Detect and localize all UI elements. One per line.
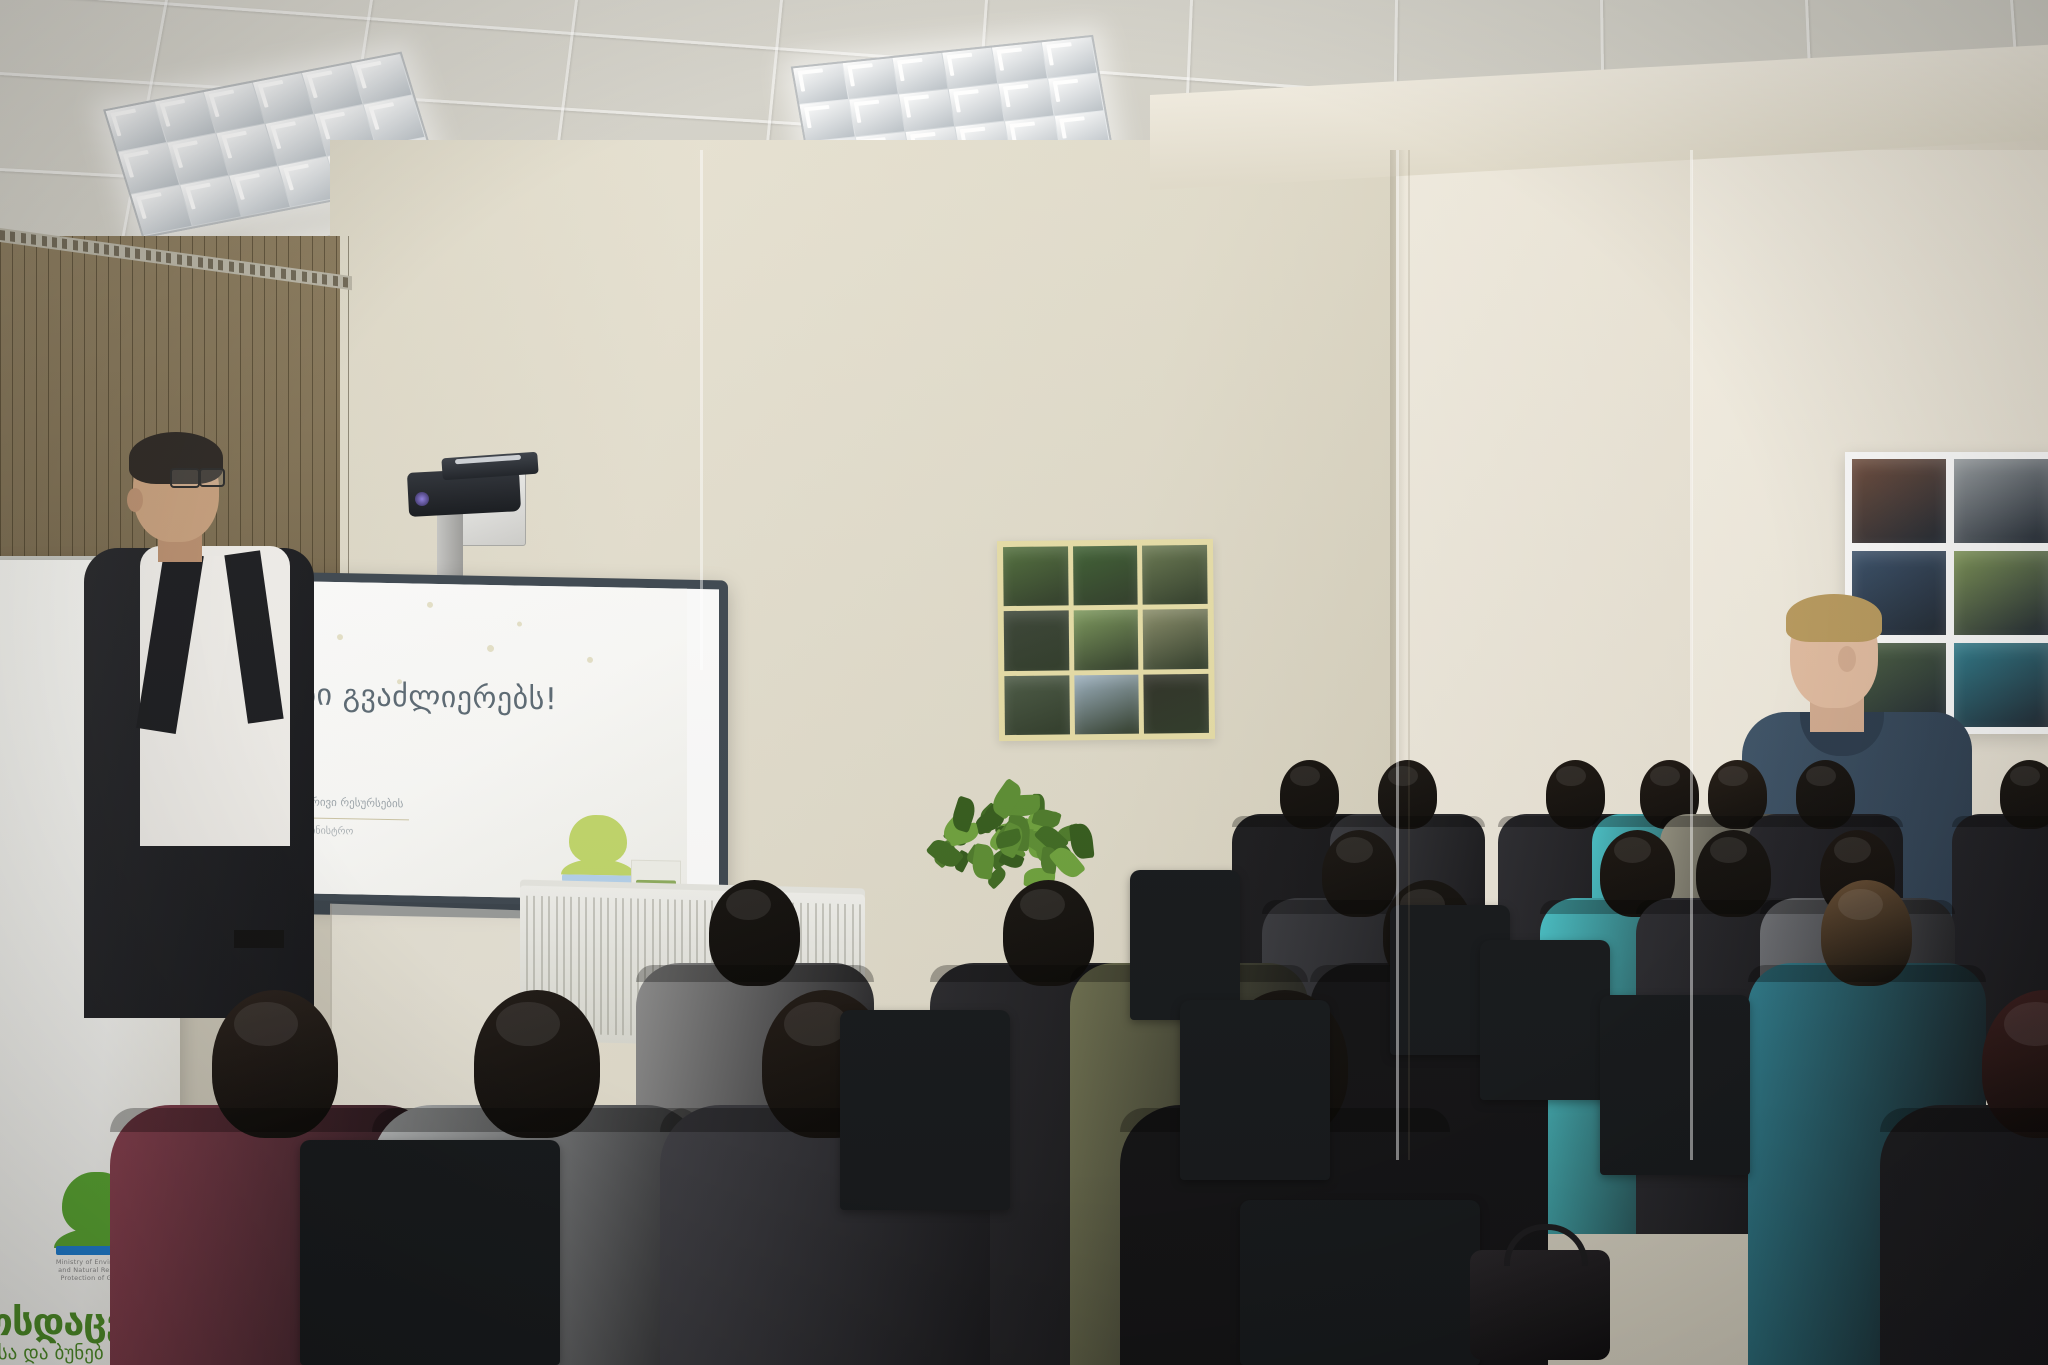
wall-seam-shadow [1408, 150, 1410, 1160]
seated-audience [0, 0, 2048, 1365]
woman-dark-hair-left-body [1880, 1105, 2048, 1365]
wall-seam [1396, 150, 1399, 1160]
audience-member [1880, 990, 2048, 1365]
man-hand-on-chin-shoulder-shadow [1952, 816, 2048, 827]
wall-seam [700, 150, 703, 670]
audience-chair[interactable] [1480, 940, 1610, 1100]
man-seated-foreground-hair-highlight [496, 1002, 559, 1046]
audience-chair[interactable] [1240, 1200, 1480, 1365]
man-dark-jacket-back-shoulder-shadow [636, 965, 874, 982]
audience-chair[interactable] [1180, 1000, 1330, 1180]
man-checked-shirt-back-hair-highlight [1834, 837, 1871, 863]
black-handbag [1470, 1250, 1610, 1360]
woman-dark-hair-left-shoulder-shadow [1880, 1108, 2048, 1132]
woman-olive-coat-hair-highlight [234, 1002, 297, 1046]
audience-chair[interactable] [840, 1010, 1010, 1210]
audience-chair[interactable] [1130, 870, 1240, 1020]
wall-seam [1690, 150, 1693, 1160]
audience-chair[interactable] [1600, 995, 1750, 1175]
woman-grey-sleeve-hair-highlight [1710, 837, 1747, 863]
man-dark-hair-far-right-shoulder-shadow [1748, 965, 1986, 982]
audience-chair[interactable] [300, 1140, 560, 1365]
seminar-room-photo: Ministry of Environment and Natural Reso… [0, 0, 2048, 1365]
man-checked-shirt-front-left-hair-highlight [784, 1002, 847, 1046]
woman-young-back-row-hair-highlight [1336, 837, 1373, 863]
man-seated-foreground-shoulder-shadow [372, 1108, 702, 1132]
woman-dark-long-hair-centre-shoulder-shadow [1748, 816, 1903, 827]
